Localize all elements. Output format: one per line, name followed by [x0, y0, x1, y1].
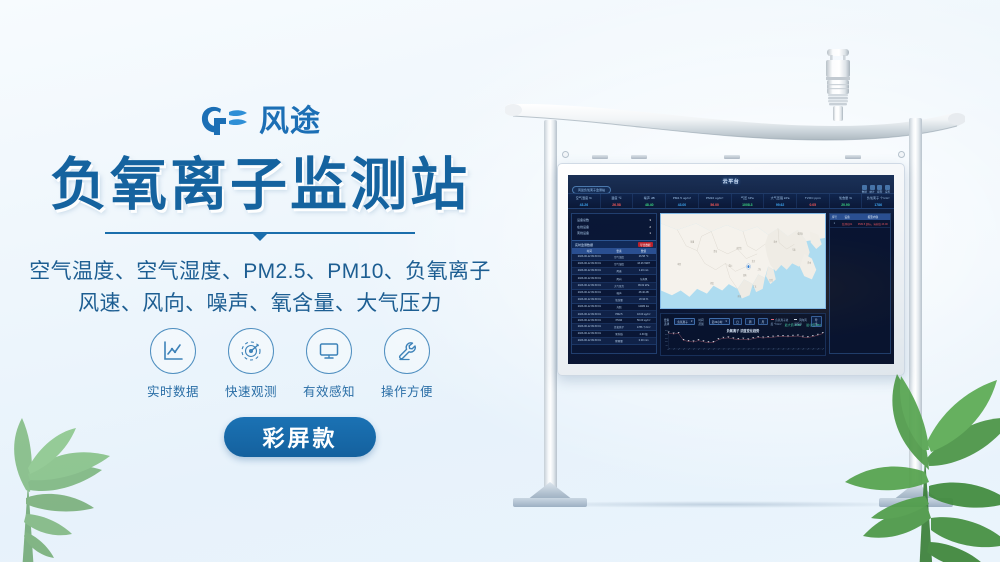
feature-icon-frame [228, 328, 274, 374]
chart-data-point [783, 336, 784, 337]
chart-data-marker [702, 340, 704, 341]
chart-data-marker [673, 333, 675, 334]
chart-data-marker [692, 341, 694, 342]
chart-data-point [793, 336, 794, 337]
metric-value: 1786 [862, 203, 894, 207]
chevron-down-icon: ▾ [725, 320, 726, 323]
y-tick-label: 2000 [665, 334, 668, 336]
feature-label: 快速观测 [218, 381, 284, 400]
table-cell: 2023-06-12 09:30:01 [572, 311, 607, 316]
metric-value: 48.40 [633, 203, 665, 207]
cta-button[interactable]: 彩屏款 [224, 417, 376, 457]
china-east-asia-map[interactable]: 新疆青海 内蒙古北京 四川湖南 上海广东 蒙古东北 日本台湾 印度南海 中亚俄罗… [660, 213, 826, 309]
y-tick-label: 1500 [665, 338, 668, 340]
chart-data-point [683, 340, 684, 341]
chart-data-marker [762, 337, 764, 338]
chart-data-point [698, 340, 699, 341]
metric-card[interactable]: 气压 hPa1008.3 [732, 194, 765, 208]
table-row[interactable]: 2023-06-12 09:30:01风向东南风 [572, 275, 656, 282]
legend-swatch [794, 319, 797, 320]
device-summary-row: 离线设备1 [577, 230, 651, 236]
chart-data-point [813, 336, 814, 337]
feature-item-realtime-data: 实时数据 [140, 328, 206, 400]
dashboard-title: 云平台 [723, 178, 740, 185]
realtime-data-panel: 设备总数3在线设备2离线设备1 实时监测数据 导出数据 时间要素数值 2023-… [571, 213, 657, 354]
metric-label: 氧含量 % [830, 196, 862, 200]
table-cell: 2023-06-12 09:30:01 [572, 275, 607, 281]
feature-item-effective-sensing: 有效感知 [296, 328, 362, 400]
table-cell: 降雨量 [607, 338, 632, 344]
y-tick-label: 500 [666, 345, 669, 347]
metric-value: 0.05 [797, 203, 829, 207]
chart-data-marker [668, 332, 670, 333]
alarm-cell: 1 [830, 220, 839, 226]
support-post-left [544, 120, 557, 500]
chart-data-marker [822, 332, 824, 333]
device-summary: 设备总数3在线设备2离线设备1 [572, 214, 656, 238]
chart-data-marker [697, 339, 699, 340]
chart-data-marker [757, 336, 759, 337]
table-cell: 0.00 mm [631, 338, 656, 344]
feature-label: 有效感知 [296, 381, 362, 400]
table-cell: 1786 个/cm³ [631, 324, 656, 330]
chart-data-point [808, 337, 809, 338]
table-cell: PM2.5 [607, 311, 632, 316]
base-plate-right [879, 498, 953, 507]
chart-data-marker [747, 339, 749, 340]
table-row[interactable]: 2023-06-12 09:30:01紫外线2.30 级 [572, 331, 656, 338]
left-text-column: 风途 负氧离子监测站 空气温度、空气湿度、PM2.5、PM10、负氧离子 风速、… [0, 0, 520, 562]
range-button-week[interactable]: 周 [745, 318, 755, 325]
range-filter-label: 时间范围 [698, 318, 705, 326]
chart-data-marker [727, 336, 729, 337]
chart-series-line [669, 333, 823, 343]
metric-card[interactable]: PM10 ug/m³56.00 [699, 194, 732, 208]
chart-data-marker [777, 335, 779, 336]
chart-data-marker [782, 335, 784, 336]
table-cell: 紫外线 [607, 331, 632, 337]
table-cell: 噪声 [607, 290, 632, 296]
dashboard-screen: 云平台 风途负氧离子监测站 数据 统计 报警 [568, 175, 894, 364]
table-cell: PM10 [607, 318, 632, 323]
set-icon [885, 185, 890, 190]
metric-label: PM2.5 ug/m³ [666, 196, 698, 200]
feature-item-easy-operation: 操作方便 [374, 328, 440, 400]
chart-data-marker [802, 336, 804, 337]
table-cell: 2023-06-12 09:30:01 [572, 283, 607, 289]
metric-label: 噪声 dB [633, 196, 665, 200]
chart-data-point [708, 342, 709, 343]
table-cell: 48.40 dB [631, 290, 656, 296]
range-button-month[interactable]: 月 [758, 318, 768, 325]
subtitle-line-1: 空气温度、空气湿度、PM2.5、PM10、负氧离子 [0, 256, 520, 288]
range-filter-select[interactable]: 近24小时 ▾ [709, 318, 730, 325]
table-row[interactable]: 2023-06-12 09:30:01噪声48.40 dB [572, 290, 656, 297]
export-data-button[interactable]: 导出数据 [638, 242, 653, 247]
monitoring-station-product: 云平台 风途负氧离子监测站 数据 统计 报警 [500, 0, 1000, 562]
chart-data-point [703, 342, 704, 343]
summary-label: 在线设备 [577, 225, 589, 229]
chart-data-point [763, 338, 764, 339]
element-filter-select[interactable]: 负氧离子 ▾ [674, 318, 695, 325]
chevron-down-icon: ▾ [691, 320, 692, 323]
metric-card[interactable]: 噪声 dB48.40 [633, 194, 666, 208]
table-cell: 1.20 m/s [631, 268, 656, 274]
table-cell: 风速 [607, 268, 632, 274]
feature-label: 实时数据 [140, 381, 206, 400]
alarm-panel: 序号设备报警内容 1监测站01PM2.5 超标，当前值 43.00 [829, 213, 891, 354]
x-tick-label: 00:00 [668, 347, 672, 350]
feature-label: 操作方便 [374, 381, 440, 400]
table-cell: 56.00 ug/m³ [631, 318, 656, 323]
chart-data-marker [792, 335, 794, 336]
base-plate-left [513, 498, 587, 507]
chart-data-point [818, 335, 819, 336]
chart-data-point [723, 338, 724, 339]
chart-data-marker [797, 335, 799, 336]
chart-data-marker [767, 336, 769, 337]
table-cell: 氧含量 [607, 297, 632, 303]
metric-card[interactable]: 大气压强 kPa99.62 [764, 194, 797, 208]
table-cell: 负氧离子 [607, 324, 632, 330]
feature-icon-frame [306, 328, 352, 374]
chart-data-marker [742, 338, 744, 339]
metric-label: 大气压强 kPa [764, 196, 796, 200]
chart-data-marker [732, 338, 734, 339]
chart-data-point [822, 333, 823, 334]
page-title: 负氧离子监测站 [0, 155, 520, 217]
metric-value: 43.26 [568, 203, 600, 207]
table-row[interactable]: 2023-06-12 09:30:01空气湿度43.26 %RH [572, 261, 656, 268]
summary-value: 2 [649, 225, 651, 229]
chart-axes [669, 331, 823, 349]
mount-bolt-right [898, 151, 905, 158]
alarm-row[interactable]: 1监测站01PM2.5 超标，当前值 43.00 [830, 220, 890, 227]
chart-data-marker [772, 336, 774, 337]
fengtu-g-leaf-logo-icon [199, 102, 251, 142]
metric-label: TVOC ppm [797, 196, 829, 200]
table-cell: 2023-06-12 09:30:01 [572, 268, 607, 274]
feature-icon-frame [384, 328, 430, 374]
table-cell: 空气湿度 [607, 261, 632, 267]
brand-name: 风途 [259, 107, 321, 137]
y-tick-label: 1000 [665, 341, 668, 343]
subtitle-line-2: 风速、风向、噪声、氧含量、大气压力 [0, 288, 520, 320]
trend-line-chart: 0500100015002000250000:0001:0002:0003:00… [661, 329, 825, 355]
range-filter-value: 近24小时 [712, 320, 723, 324]
table-row[interactable]: 2023-06-12 09:30:01大气压力99.62 kPa [572, 283, 656, 290]
summary-value: 1 [649, 231, 651, 235]
table-cell: 大气压力 [607, 283, 632, 289]
chart-data-point [733, 339, 734, 340]
table-cell: 99.62 kPa [631, 283, 656, 289]
wrench-icon [395, 339, 419, 363]
table-cell: 43.26 %RH [631, 261, 656, 267]
feature-list: 实时数据 快速观测 [140, 328, 440, 400]
metric-label: 负氧离子 个/cm³ [862, 196, 894, 200]
metric-card[interactable]: PM2.5 ug/m³43.00 [666, 194, 699, 208]
table-cell: 2023-06-12 09:30:01 [572, 290, 607, 296]
table-row[interactable]: 2023-06-12 09:30:01光照12480 lux [572, 304, 656, 311]
metric-label: 气压 hPa [732, 196, 764, 200]
range-button-day[interactable]: 日 [733, 318, 743, 325]
metric-card[interactable]: 温度 ℃26.58 [601, 194, 634, 208]
table-header-bar: 实时监测数据 导出数据 [572, 240, 656, 248]
chart-data-point [758, 337, 759, 338]
support-post-right [909, 118, 922, 500]
table-cell: 2023-06-12 09:30:01 [572, 318, 607, 323]
alarm-cell: 监测站01 [839, 220, 856, 226]
trend-chart-panel: 要素选择 负氧离子 ▾ 时间范围 近24小时 ▾ 日 周 月 [660, 313, 826, 356]
title-divider [0, 232, 520, 241]
canopy-roof [505, 88, 965, 150]
chart-readout-item: 最大值 2180 [785, 323, 802, 327]
brand-logo: 风途 [0, 102, 520, 142]
chart-data-point [778, 336, 779, 337]
summary-label: 设备总数 [577, 218, 589, 222]
table-cell: 12480 lux [631, 304, 656, 310]
metric-label: 温度 ℃ [601, 196, 633, 200]
chart-data-point [718, 339, 719, 340]
element-filter-value: 负氧离子 [677, 320, 687, 324]
chart-data-point [728, 338, 729, 339]
chart-data-point [773, 337, 774, 338]
chart-data-point [768, 337, 769, 338]
chart-data-point [738, 339, 739, 340]
chart-data-marker [717, 338, 719, 339]
table-row[interactable]: 2023-06-12 09:30:01氧含量20.90 % [572, 297, 656, 304]
table-cell: 2023-06-12 09:30:01 [572, 297, 607, 303]
table-cell: 光照 [607, 304, 632, 310]
chart-data-marker [722, 337, 724, 338]
chart-data-marker [678, 332, 680, 333]
chart-data-point [688, 341, 689, 342]
chart-data-point [798, 336, 799, 337]
table-cell: 2023-06-12 09:30:01 [572, 338, 607, 344]
chart-data-marker [687, 340, 689, 341]
chart-data-point [788, 337, 789, 338]
table-cell: 空气温度 [607, 254, 632, 260]
chart-data-point [748, 340, 749, 341]
svg-text:四川: 四川 [729, 264, 732, 267]
map-graphic: 新疆青海 内蒙古北京 四川湖南 上海广东 蒙古东北 日本台湾 印度南海 中亚俄罗… [661, 214, 825, 308]
metric-card[interactable]: 负氧离子 个/cm³1786 [862, 194, 894, 208]
data-table-body[interactable]: 2023-06-12 09:30:01空气温度26.58 ℃2023-06-12… [572, 254, 656, 345]
summary-value: 3 [649, 218, 651, 222]
chart-data-point [678, 333, 679, 334]
table-cell: 2023-06-12 09:30:01 [572, 304, 607, 310]
metric-label: PM10 ug/m³ [699, 196, 731, 200]
mount-bracket-3 [724, 155, 740, 159]
dashboard-header: 云平台 [568, 175, 894, 188]
ultrasonic-weather-sensor-icon [815, 47, 861, 123]
line-chart-icon [161, 339, 185, 363]
chart-data-marker [817, 334, 819, 335]
table-row[interactable]: 2023-06-12 09:30:01降雨量0.00 mm [572, 338, 656, 345]
table-cell: 26.58 ℃ [631, 254, 656, 260]
mount-bracket-4 [845, 155, 861, 159]
feature-item-fast-observation: 快速观测 [218, 328, 284, 400]
table-cell: 东南风 [631, 275, 656, 281]
metric-value: 20.90 [830, 203, 862, 207]
summary-label: 离线设备 [577, 231, 589, 235]
chart-data-point [713, 342, 714, 343]
chart-data-marker [812, 335, 814, 336]
metric-value: 56.00 [699, 203, 731, 207]
subtitle: 空气温度、空气湿度、PM2.5、PM10、负氧离子 风速、风向、噪声、氧含量、大… [0, 256, 520, 320]
table-row[interactable]: 2023-06-12 09:30:01空气温度26.58 ℃ [572, 254, 656, 261]
chart-data-marker [737, 338, 739, 339]
chart-icon [870, 185, 875, 190]
metric-value: 99.62 [764, 203, 796, 207]
metric-card[interactable]: 氧含量 %20.90 [830, 194, 863, 208]
mount-bolt-left [562, 151, 569, 158]
mount-bracket-1 [592, 155, 608, 159]
radar-scan-icon [239, 339, 263, 363]
chart-data-point [668, 333, 669, 334]
promo-poster: 风途 负氧离子监测站 空气温度、空气湿度、PM2.5、PM10、负氧离子 风速、… [0, 0, 1000, 562]
metric-value: 1008.3 [732, 203, 764, 207]
element-filter-label: 要素选择 [664, 318, 671, 326]
table-cell: 43.00 ug/m³ [631, 311, 656, 316]
metric-value: 43.00 [666, 203, 698, 207]
chart-data-point [673, 334, 674, 335]
metric-value: 26.58 [601, 203, 633, 207]
table-title: 实时监测数据 [575, 243, 593, 247]
table-cell: 2023-06-12 09:30:01 [572, 324, 607, 330]
chart-data-point [693, 342, 694, 343]
divider-triangle-icon [252, 233, 268, 241]
chart-data-marker [807, 336, 809, 337]
table-cell: 20.90 % [631, 297, 656, 303]
data-icon [862, 185, 867, 190]
chart-data-point [753, 338, 754, 339]
chart-readout-item: 最小值 860 [806, 323, 821, 327]
monitor-icon [317, 339, 341, 363]
chart-data-point [743, 339, 744, 340]
chart-data-marker [787, 335, 789, 336]
display-bezel: 云平台 风途负氧离子监测站 数据 统计 报警 [557, 163, 905, 376]
alarm-icon [877, 185, 882, 190]
table-row[interactable]: 2023-06-12 09:30:01风速1.20 m/s [572, 268, 656, 275]
table-cell: 2023-06-12 09:30:01 [572, 261, 607, 267]
metric-card[interactable]: TVOC ppm0.05 [797, 194, 830, 208]
feature-icon-frame [150, 328, 196, 374]
metric-card[interactable]: 空气湿度 %43.26 [568, 194, 601, 208]
mount-bracket-2 [631, 155, 647, 159]
metric-label: 空气湿度 % [568, 196, 600, 200]
alarm-table-body[interactable]: 1监测站01PM2.5 超标，当前值 43.00 [830, 220, 890, 227]
chart-data-marker [752, 337, 754, 338]
alarm-cell: PM2.5 超标，当前值 43.00 [856, 220, 890, 226]
table-row[interactable]: 2023-06-12 09:30:01负氧离子1786 个/cm³ [572, 324, 656, 331]
table-cell: 2023-06-12 09:30:01 [572, 254, 607, 260]
table-cell: 2023-06-12 09:30:01 [572, 331, 607, 337]
chart-data-point [803, 337, 804, 338]
table-cell: 风向 [607, 275, 632, 281]
legend-swatch [771, 319, 774, 320]
chart-readouts: 最大值 2180最小值 860 [785, 323, 821, 327]
metric-strip: 空气湿度 %43.26温度 ℃26.58噪声 dB48.40PM2.5 ug/m… [568, 193, 894, 209]
chart-data-marker [707, 341, 709, 342]
chart-plot-area: 0500100015002000250000:0001:0002:0003:00… [661, 329, 825, 355]
table-cell: 2.30 级 [631, 331, 656, 337]
